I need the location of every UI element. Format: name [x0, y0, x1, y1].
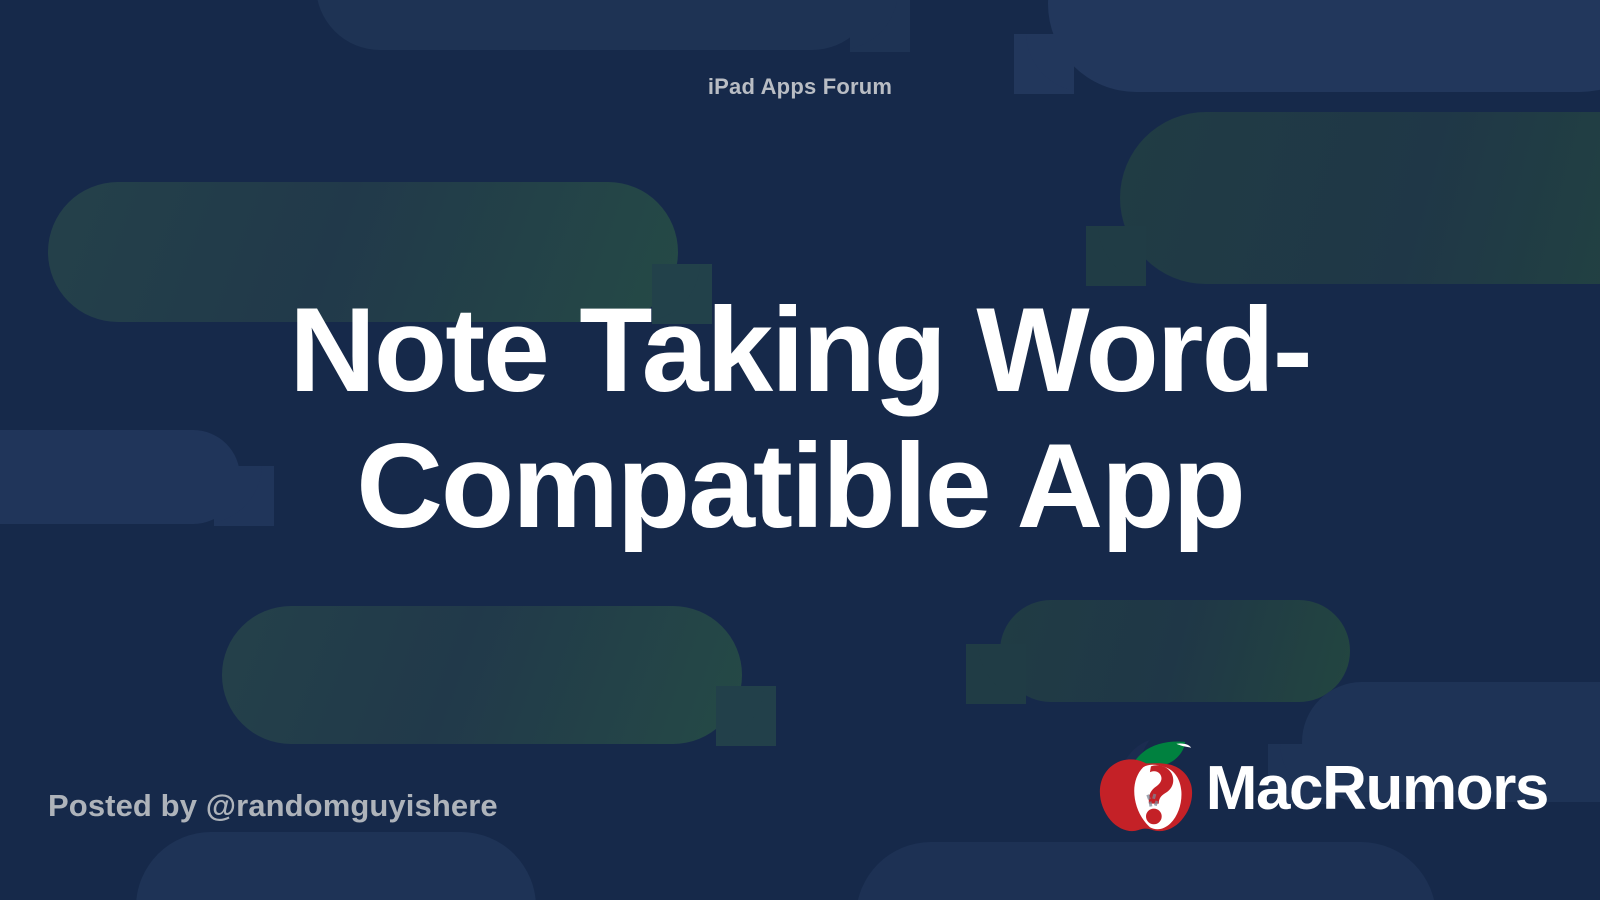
macrumors-logo: MacRumors [1092, 734, 1548, 838]
macrumors-wordmark: MacRumors [1206, 758, 1548, 820]
thread-title: Note Taking Word-Compatible App [60, 282, 1540, 554]
forum-share-card: iPad Apps Forum Note Taking Word-Compati… [0, 0, 1600, 900]
macrumors-apple-logo-icon [1092, 734, 1200, 838]
post-author-byline: Posted by @randomguyishere [48, 788, 498, 824]
card-content: iPad Apps Forum Note Taking Word-Compati… [0, 0, 1600, 900]
forum-label: iPad Apps Forum [0, 74, 1600, 100]
page-title: Note Taking Word-Compatible App [60, 282, 1540, 554]
